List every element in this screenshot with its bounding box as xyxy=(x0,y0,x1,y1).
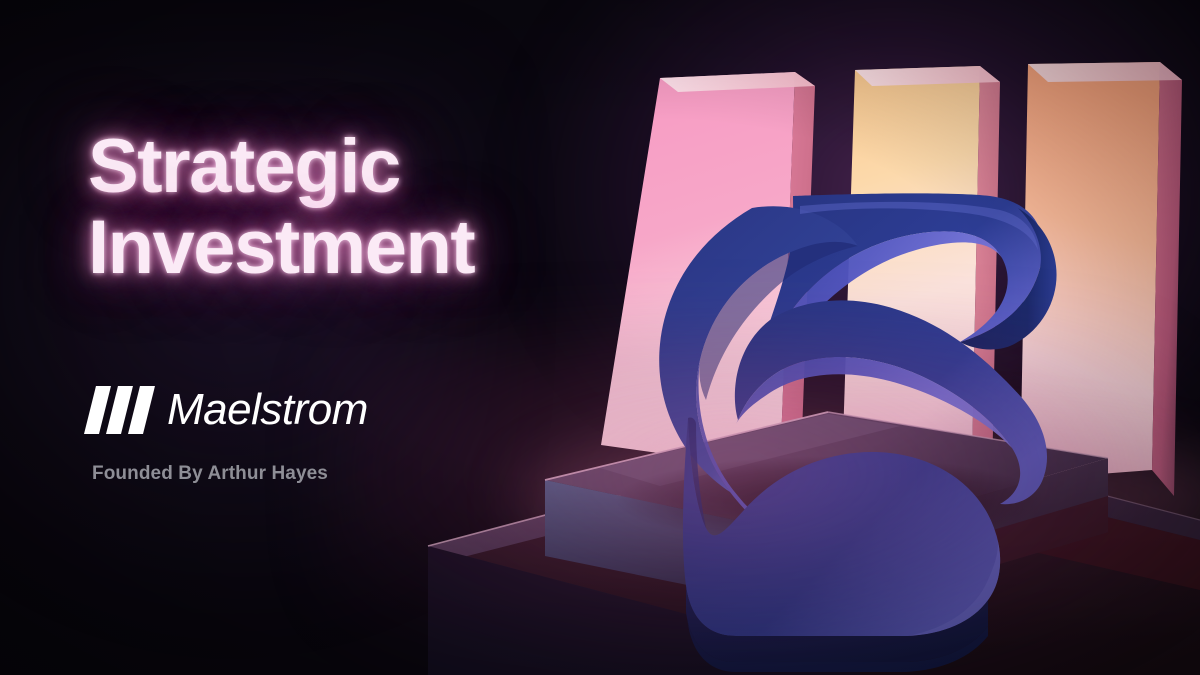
poster-canvas: Strategic Investment Maelstrom Founded B… xyxy=(0,0,1200,675)
maelstrom-bars-logo-icon xyxy=(90,386,149,434)
brand-lockup: Maelstrom xyxy=(90,386,368,434)
headline-line-2: Investment xyxy=(88,207,628,288)
page-title: Strategic Investment xyxy=(88,126,628,289)
logo-bar-3 xyxy=(128,386,155,434)
founder-tagline: Founded By Arthur Hayes xyxy=(92,463,328,485)
brand-wordmark: Maelstrom xyxy=(167,388,368,432)
backdrop-panels xyxy=(0,0,1200,675)
headline-line-1: Strategic xyxy=(88,126,628,207)
